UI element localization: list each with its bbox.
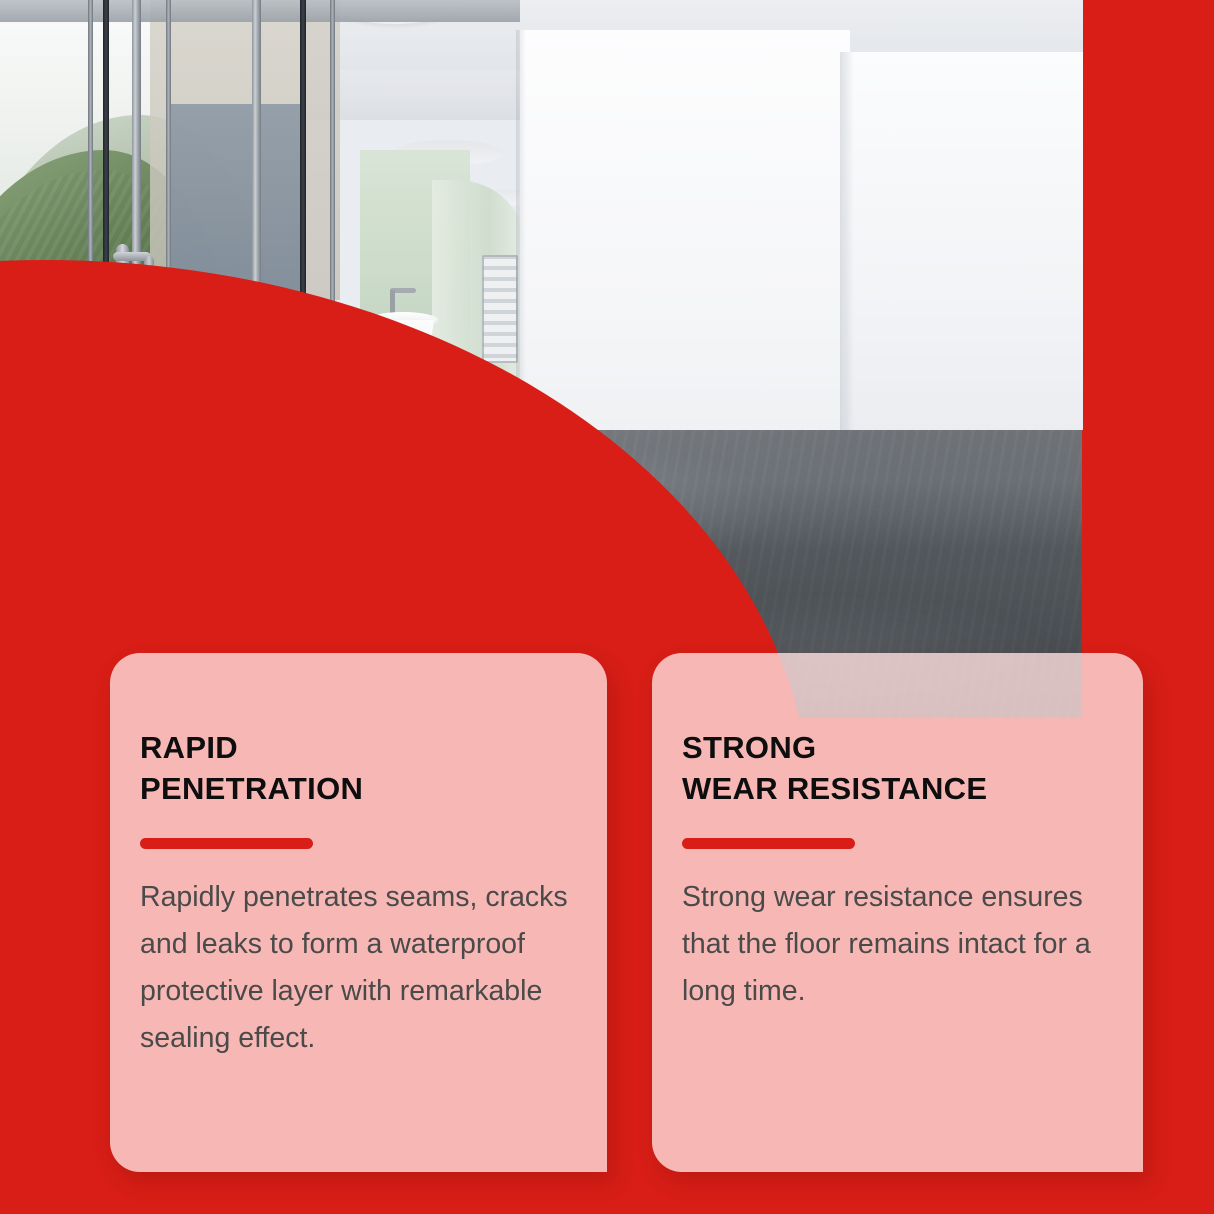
- feature-card-strong-wear-resistance[interactable]: STRONG WEAR RESISTANCE Strong wear resis…: [652, 653, 1143, 1172]
- card-body-text: Strong wear resistance ensures that the …: [682, 874, 1115, 1015]
- feature-card-rapid-penetration[interactable]: RAPID PENETRATION Rapidly penetrates sea…: [110, 653, 607, 1172]
- feature-card-list: RAPID PENETRATION Rapidly penetrates sea…: [0, 0, 1214, 1214]
- card-content: STRONG WEAR RESISTANCE Strong wear resis…: [682, 727, 1115, 1015]
- card-title: RAPID PENETRATION: [140, 727, 579, 809]
- card-title: STRONG WEAR RESISTANCE: [682, 727, 1115, 809]
- card-body-text: Rapidly penetrates seams, cracks and lea…: [140, 874, 579, 1062]
- product-feature-poster: RAPID PENETRATION Rapidly penetrates sea…: [0, 0, 1214, 1214]
- card-accent-rule: [682, 838, 855, 849]
- card-content: RAPID PENETRATION Rapidly penetrates sea…: [140, 727, 579, 1062]
- card-accent-rule: [140, 838, 313, 849]
